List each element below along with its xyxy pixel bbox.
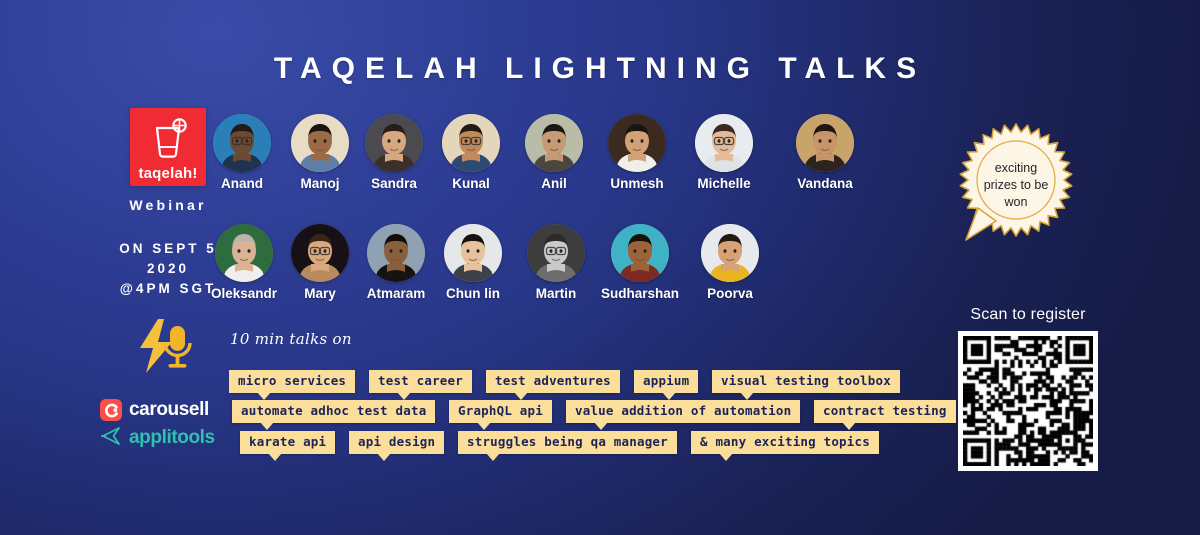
- portrait-sudharshan: [611, 224, 669, 282]
- scan-to-register-label: Scan to register: [955, 306, 1101, 324]
- webinar-label: Webinar: [98, 197, 238, 213]
- topic-tag: struggles being qa manager: [458, 431, 677, 454]
- topic-tag: GraphQL api: [449, 400, 552, 423]
- sponsor-carousell[interactable]: carousell: [100, 396, 250, 424]
- portrait-chunlin: [444, 224, 502, 282]
- topic-tag: & many exciting topics: [691, 431, 879, 454]
- speaker-name: Atmaram: [356, 286, 436, 301]
- portrait-kunal: [442, 114, 500, 172]
- topic-tag: test adventures: [486, 370, 620, 393]
- qr-code[interactable]: [958, 331, 1098, 471]
- sponsor-logos: carousell applitools: [100, 396, 250, 452]
- prizes-badge-line-1: exciting: [952, 160, 1080, 177]
- portrait-manoj: [291, 114, 349, 172]
- register-block: Scan to register: [955, 306, 1101, 471]
- speaker-michelle[interactable]: Michelle: [684, 114, 764, 191]
- portrait-anand: [213, 114, 271, 172]
- portrait-michelle: [695, 114, 753, 172]
- speaker-name: Anil: [514, 176, 594, 191]
- poster-canvas: TAQELAH LIGHTNING TALKS taqelah! Webinar…: [0, 0, 1200, 535]
- portrait-anil: [525, 114, 583, 172]
- speaker-name: Oleksandr: [204, 286, 284, 301]
- speaker-unmesh[interactable]: Unmesh: [597, 114, 677, 191]
- topic-tag: api design: [349, 431, 444, 454]
- speaker-name: Martin: [516, 286, 596, 301]
- speaker-name: Mary: [280, 286, 360, 301]
- portrait-mary: [291, 224, 349, 282]
- carousell-mark-icon: [100, 399, 122, 421]
- applitools-mark-icon: [100, 426, 122, 451]
- portrait-vandana: [796, 114, 854, 172]
- lightning-bolt-microphone-icon: [132, 318, 202, 379]
- speaker-vandana[interactable]: Vandana: [785, 114, 865, 191]
- speaker-anil[interactable]: Anil: [514, 114, 594, 191]
- speaker-chun-lin[interactable]: Chun lin: [433, 224, 513, 301]
- taqelah-logo: taqelah!: [130, 108, 206, 186]
- speaker-oleksandr[interactable]: Oleksandr: [204, 224, 284, 301]
- portrait-unmesh: [608, 114, 666, 172]
- talks-label: 10 min talks on: [230, 330, 352, 348]
- speaker-name: Sudharshan: [600, 286, 680, 301]
- portrait-poorva: [701, 224, 759, 282]
- taqelah-wordmark: taqelah!: [130, 165, 206, 182]
- topic-tag: karate api: [240, 431, 335, 454]
- prizes-badge-line-3: won: [952, 194, 1080, 211]
- speaker-name: Manoj: [280, 176, 360, 191]
- cocktail-cup-icon: [148, 117, 188, 168]
- portrait-atmaram: [367, 224, 425, 282]
- topic-tag: micro services: [229, 370, 355, 393]
- topic-tag: visual testing toolbox: [712, 370, 900, 393]
- topic-tag: value addition of automation: [566, 400, 800, 423]
- speaker-mary[interactable]: Mary: [280, 224, 360, 301]
- speaker-martin[interactable]: Martin: [516, 224, 596, 301]
- speaker-name: Sandra: [354, 176, 434, 191]
- speaker-sudharshan[interactable]: Sudharshan: [600, 224, 680, 301]
- speaker-name: Anand: [202, 176, 282, 191]
- speaker-sandra[interactable]: Sandra: [354, 114, 434, 191]
- speaker-name: Michelle: [684, 176, 764, 191]
- topic-tag: test career: [369, 370, 472, 393]
- speaker-name: Poorva: [690, 286, 770, 301]
- sponsor-applitools-label: applitools: [129, 427, 215, 449]
- page-title: TAQELAH LIGHTNING TALKS: [0, 52, 1200, 86]
- speaker-name: Vandana: [785, 176, 865, 191]
- speaker-anand[interactable]: Anand: [202, 114, 282, 191]
- prizes-badge-line-2: prizes to be: [952, 177, 1080, 194]
- topic-tag: automate adhoc test data: [232, 400, 435, 423]
- portrait-oleksandr: [215, 224, 273, 282]
- topic-tag: appium: [634, 370, 698, 393]
- portrait-sandra: [365, 114, 423, 172]
- sponsor-applitools[interactable]: applitools: [100, 424, 250, 452]
- topic-tag: contract testing: [814, 400, 956, 423]
- prizes-badge: exciting prizes to be won: [952, 122, 1080, 248]
- speaker-poorva[interactable]: Poorva: [690, 224, 770, 301]
- speaker-kunal[interactable]: Kunal: [431, 114, 511, 191]
- sponsor-carousell-label: carousell: [129, 399, 209, 421]
- speaker-atmaram[interactable]: Atmaram: [356, 224, 436, 301]
- speaker-name: Chun lin: [433, 286, 513, 301]
- speaker-name: Unmesh: [597, 176, 677, 191]
- prizes-badge-text: exciting prizes to be won: [952, 160, 1080, 211]
- portrait-martin: [527, 224, 585, 282]
- speaker-name: Kunal: [431, 176, 511, 191]
- speaker-manoj[interactable]: Manoj: [280, 114, 360, 191]
